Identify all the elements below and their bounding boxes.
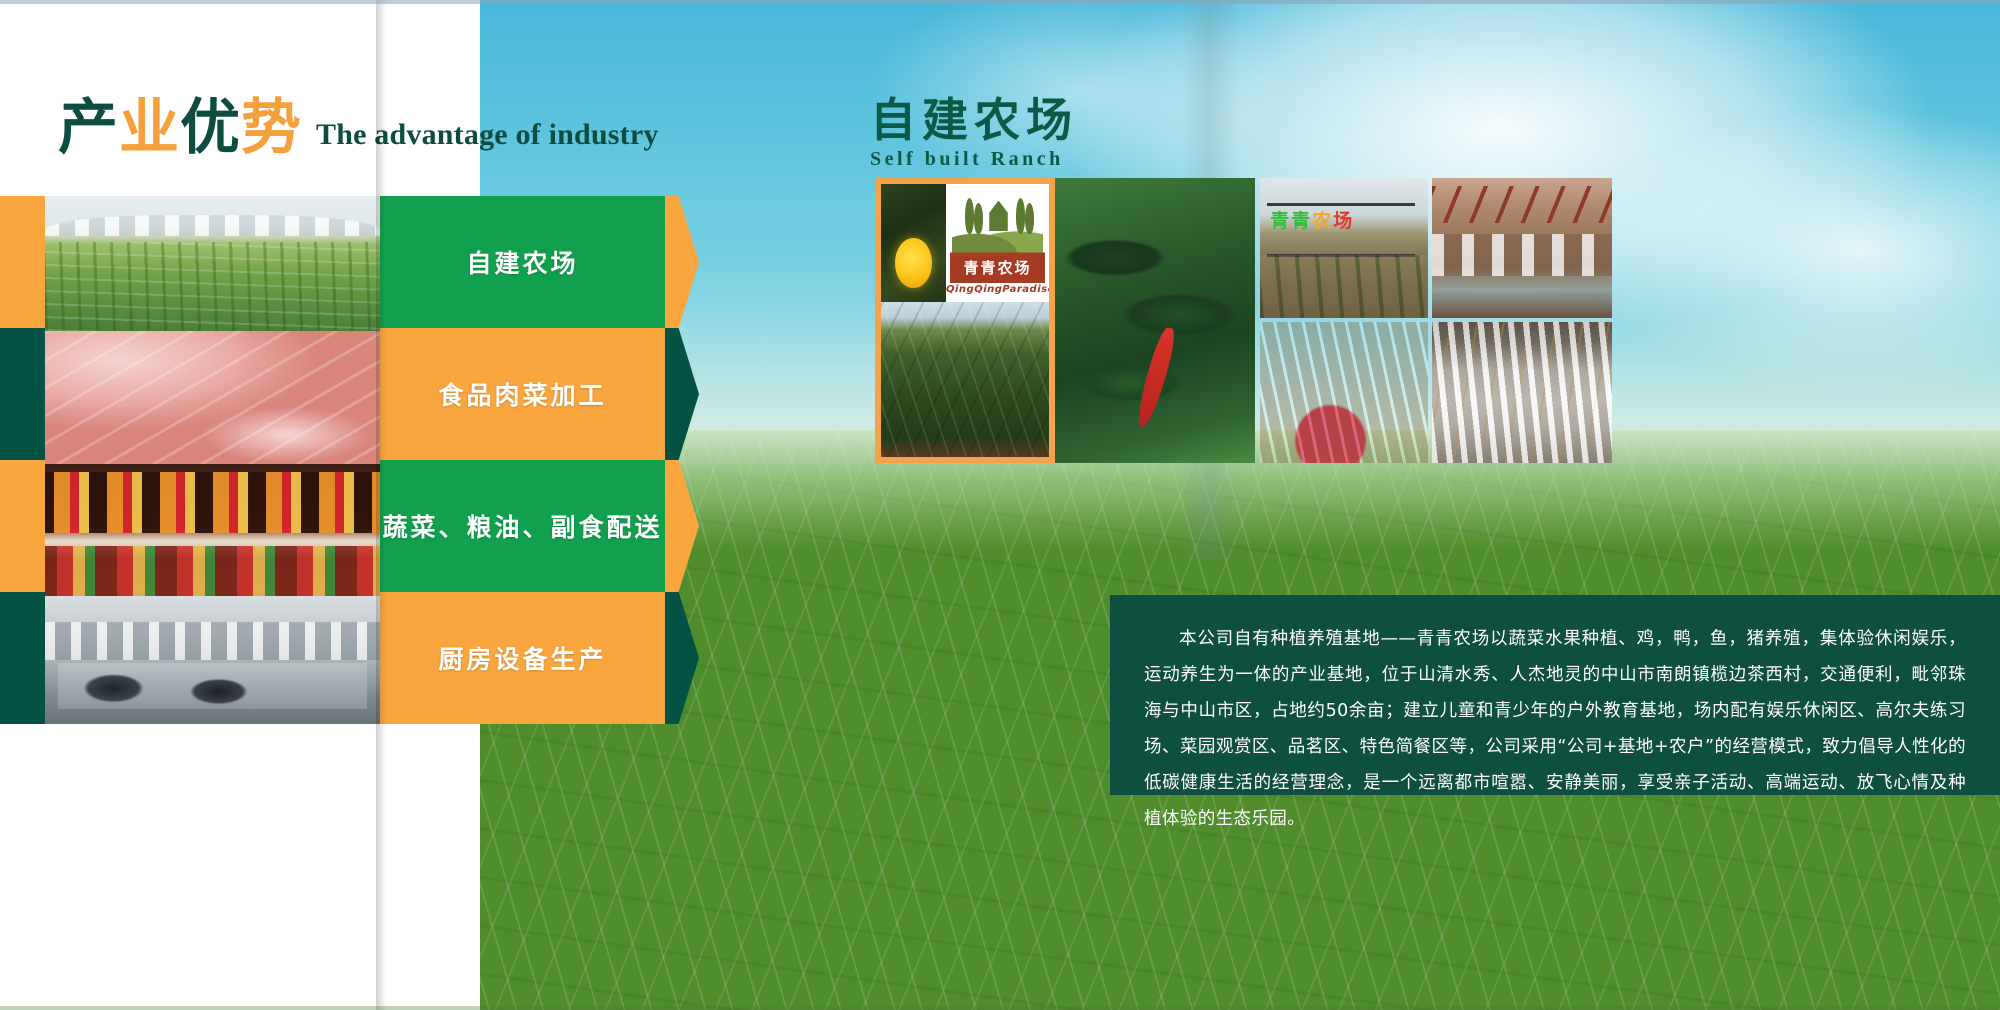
bottom-border-line <box>0 1006 2000 1010</box>
industry-bar-1[interactable]: 食品肉菜加工 <box>380 328 665 460</box>
top-border-line <box>0 0 2000 4</box>
brochure-spread: 自建农场食品肉菜加工蔬菜、粮油、副食配送厨房设备生产 产业优势 The adva… <box>0 0 2000 1010</box>
logo-tree-icon <box>965 198 974 233</box>
left-photo-column <box>45 196 380 724</box>
photo-commercial-kitchen-equipment <box>45 596 380 724</box>
farm-sign-char-1: 青 <box>1291 210 1312 232</box>
industry-advantage-bars: 自建农场食品肉菜加工蔬菜、粮油、副食配送厨房设备生产 <box>380 196 680 724</box>
left-accent-column <box>0 196 45 724</box>
collage-framed-group: 青青农场 QingQingParadise <box>875 178 1055 463</box>
right-page-title: 自建农场 Self built Ranch <box>870 96 1078 171</box>
accent-block-2 <box>0 460 45 592</box>
logo-tree-icon <box>1016 198 1025 233</box>
photo-pig-barn <box>1432 178 1612 318</box>
photo-chicken-flock <box>1260 322 1428 463</box>
industry-bar-0[interactable]: 自建农场 <box>380 196 665 328</box>
photo-sauce-bottle-shelf <box>45 464 380 596</box>
industry-bar-2[interactable]: 蔬菜、粮油、副食配送 <box>380 460 665 592</box>
farm-sign-char-0: 青 <box>1270 210 1291 232</box>
photo-raw-pork-meat <box>45 331 380 464</box>
industry-bar-label: 厨房设备生产 <box>438 640 606 676</box>
industry-bar-label: 自建农场 <box>466 244 578 280</box>
page-title-char-3: 势 <box>241 98 302 158</box>
logo-name-en: QingQingParadise <box>946 284 1049 295</box>
page-title-cn: 产业优势 <box>58 98 302 158</box>
logo-tree-icon <box>974 203 983 234</box>
photo-pumpkin-flower <box>881 184 946 302</box>
accent-block-0 <box>0 196 45 328</box>
photo-farm-entrance-sign: 青青农场 <box>1260 178 1428 318</box>
page-title-char-0: 产 <box>58 98 119 158</box>
farm-sign-char-2: 农 <box>1312 210 1333 232</box>
accent-block-1 <box>0 328 45 460</box>
page-title-char-1: 业 <box>119 98 180 158</box>
section-title-en: Self built Ranch <box>870 148 1078 171</box>
photo-greenhouse-vegetable-field <box>45 196 380 331</box>
page-title-en: The advantage of industry <box>316 118 659 152</box>
logo-name-ribbon: 青青农场 <box>950 252 1045 283</box>
farm-description-panel: 本公司自有种植养殖基地——青青农场以蔬菜水果种植、鸡，鸭，鱼，猪养殖，集体验休闲… <box>1110 595 2000 795</box>
left-page-title: 产业优势 The advantage of industry <box>58 98 659 158</box>
page-title-char-2: 优 <box>180 98 241 158</box>
photo-duck-flock <box>1432 322 1612 463</box>
section-title-cn: 自建农场 <box>870 96 1078 144</box>
logo-tree-icon <box>1025 203 1034 234</box>
logo-name-cn: 青青农场 <box>963 257 1031 278</box>
photo-sweet-potato-field <box>881 302 1049 457</box>
industry-bar-3[interactable]: 厨房设备生产 <box>380 592 665 724</box>
photo-green-pepper-plant <box>1055 178 1255 463</box>
qingqing-farm-logo: 青青农场 QingQingParadise <box>946 184 1049 302</box>
farm-photo-collage: 青青农场 QingQingParadise 青青农场 <box>875 178 1945 463</box>
industry-bar-label: 食品肉菜加工 <box>438 376 606 412</box>
accent-block-3 <box>0 592 45 724</box>
farm-description-text: 本公司自有种植养殖基地——青青农场以蔬菜水果种植、鸡，鸭，鱼，猪养殖，集体验休闲… <box>1144 621 1966 837</box>
farm-sign-char-3: 场 <box>1333 210 1354 232</box>
industry-bar-label: 蔬菜、粮油、副食配送 <box>382 508 662 544</box>
